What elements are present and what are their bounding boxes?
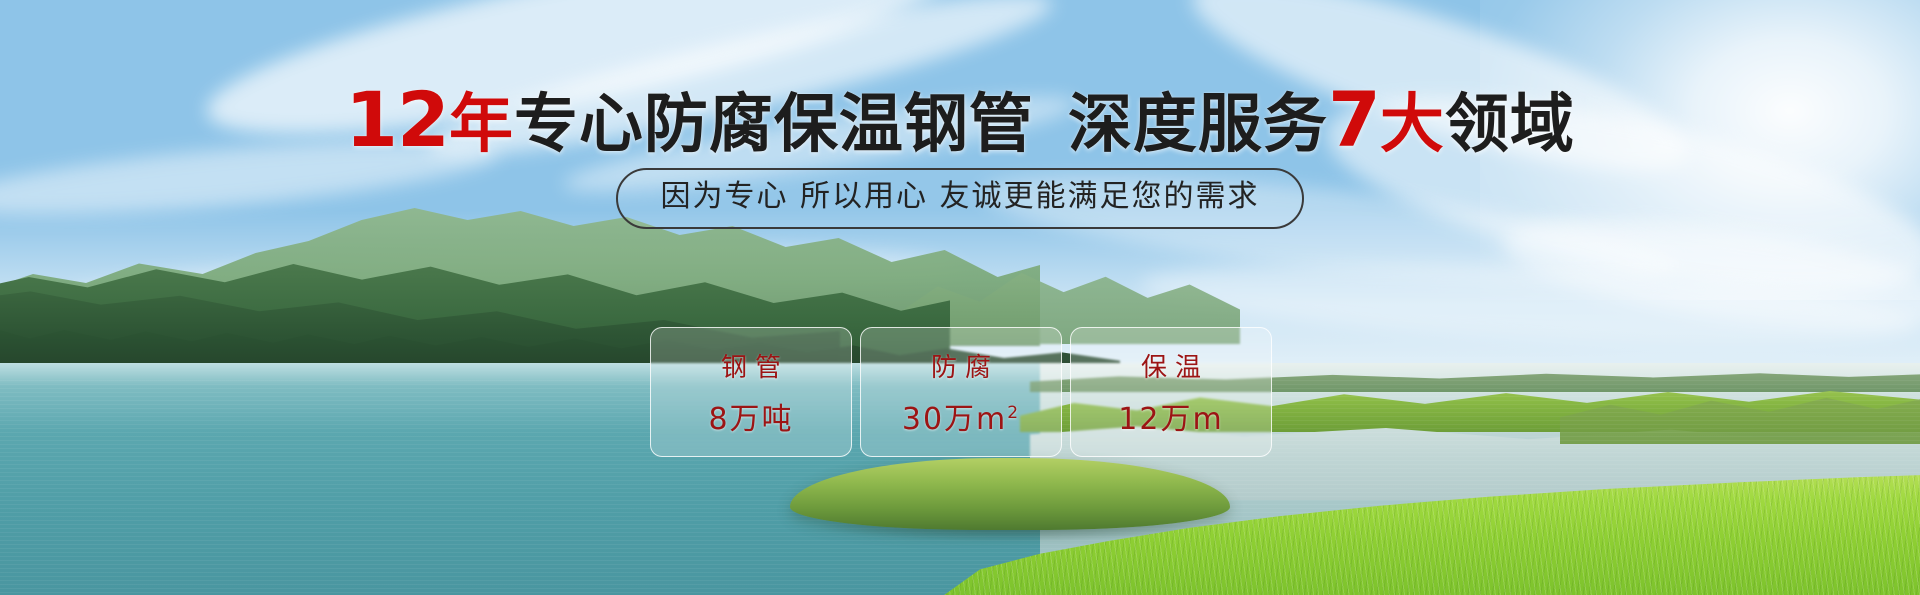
stat-card-title: 保温: [1133, 347, 1209, 384]
headline-years-unit: 年: [449, 88, 514, 162]
hero-banner: 12年专心防腐保温钢管深度服务7大领域 因为专心 所以用心 友诚更能满足您的需求…: [0, 0, 1920, 595]
stat-card-steel-pipe[interactable]: 钢管 8万吨: [650, 327, 852, 457]
stat-card-anticorrosion[interactable]: 防腐 30万m2: [860, 327, 1062, 457]
banner-headline: 12年专心防腐保温钢管深度服务7大领域: [0, 82, 1920, 158]
headline-years-number: 12: [345, 75, 449, 164]
stat-card-insulation[interactable]: 保温 12万m: [1070, 327, 1272, 457]
stat-card-value-text: 12万m: [1118, 402, 1223, 437]
stat-card-value: 12万m: [1118, 394, 1223, 438]
stat-card-value-text: 30万m: [902, 402, 1007, 437]
stat-card-title: 防腐: [923, 347, 999, 384]
headline-fields-unit: 大: [1380, 88, 1445, 162]
headline-middle: 专心防腐保温钢管: [514, 88, 1034, 162]
stat-card-list: 钢管 8万吨 防腐 30万m2 保温 12万m: [650, 327, 1272, 457]
headline-fields-number: 7: [1328, 75, 1380, 164]
stat-card-value: 8万吨: [708, 394, 793, 438]
banner-subtitle-wrap: 因为专心 所以用心 友诚更能满足您的需求: [0, 168, 1920, 229]
stat-card-value-text: 8万吨: [708, 402, 793, 437]
stat-card-value-sup: 2: [1007, 403, 1020, 423]
banner-content: 12年专心防腐保温钢管深度服务7大领域 因为专心 所以用心 友诚更能满足您的需求…: [0, 0, 1920, 595]
headline-tail: 领域: [1445, 88, 1575, 162]
stat-card-title: 钢管: [713, 347, 789, 384]
banner-subtitle-pill: 因为专心 所以用心 友诚更能满足您的需求: [616, 168, 1303, 229]
stat-card-value: 30万m2: [902, 394, 1020, 438]
headline-service: 深度服务: [1068, 88, 1328, 162]
